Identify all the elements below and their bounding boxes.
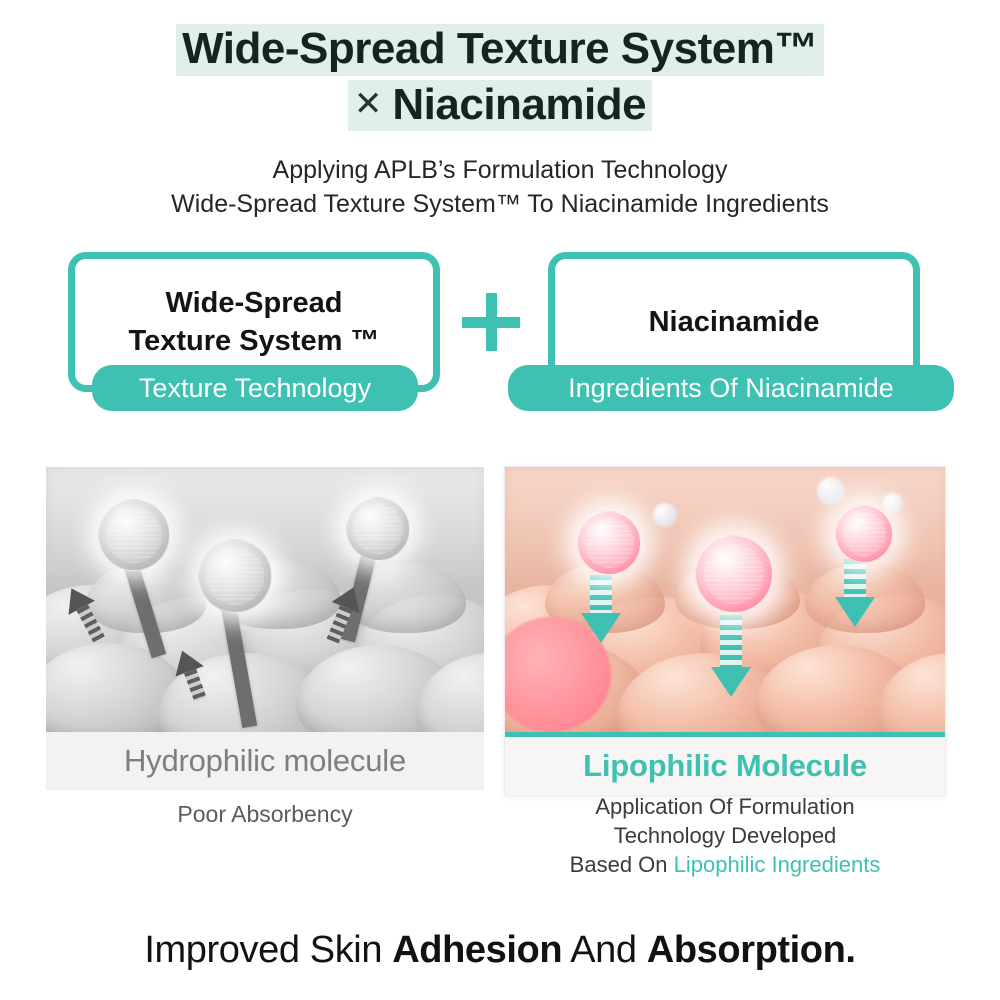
footer-statement: Improved Skin Adhesion And Absorption. <box>0 929 1000 972</box>
hydrophilic-molecule-3 <box>346 497 410 561</box>
title-row-2: ✕Niacinamide <box>0 80 1000 132</box>
micro-bubble-3 <box>883 493 903 513</box>
page-title: Wide-Spread Texture System™ ✕Niacinamide <box>0 0 1000 131</box>
cross-icon: ✕ <box>354 85 383 123</box>
footnote-poor-absorbency: Poor Absorbency <box>46 799 484 829</box>
footer-part-3: And <box>562 929 647 971</box>
caption-hydrophilic: Hydrophilic molecule <box>46 732 484 790</box>
subtitle: Applying APLB’s Formulation Technology W… <box>0 153 1000 221</box>
subtitle-line-1: Applying APLB’s Formulation Technology <box>0 153 1000 187</box>
lipophilic-molecule-1 <box>577 511 641 575</box>
absorb-arrow-1 <box>581 575 621 643</box>
micro-bubble-1 <box>653 503 677 527</box>
title-line-1: Wide-Spread Texture System™ <box>0 24 1000 76</box>
hydrophilic-molecule-2 <box>198 539 272 613</box>
panel-lipophilic: Lipophilic Molecule <box>505 467 945 795</box>
lipophilic-molecule-3 <box>835 505 893 563</box>
pill-ingredients-of-niacinamide: Ingredients Of Niacinamide <box>508 365 954 411</box>
footnote-line-3: Based On Lipophilic Ingredients <box>505 850 945 879</box>
formula-cards: Wide-Spread Texture System ™ Texture Tec… <box>0 245 1000 445</box>
absorb-arrow-2 <box>711 615 751 697</box>
card-right-title: Niacinamide <box>639 303 830 341</box>
card-left-title-line-2: Texture System ™ <box>129 322 380 360</box>
caption-lipophilic: Lipophilic Molecule <box>505 737 945 795</box>
footer-part-4: Absorption. <box>647 929 856 971</box>
title-row-1: Wide-Spread Texture System™ <box>0 24 1000 76</box>
footnote-line-3-highlight: Lipophilic Ingredients <box>674 852 881 877</box>
title-line-2: Niacinamide <box>392 80 646 129</box>
footnote-line-2: Technology Developed <box>505 821 945 850</box>
subtitle-line-2: Wide-Spread Texture System™ To Niacinami… <box>0 187 1000 221</box>
card-left-title: Wide-Spread Texture System ™ <box>119 284 390 361</box>
footnote-lipophilic: Application Of Formulation Technology De… <box>505 792 945 879</box>
pill-texture-technology: Texture Technology <box>92 365 418 411</box>
lipophilic-molecule-2 <box>695 535 773 613</box>
footnote-line-1: Application Of Formulation <box>505 792 945 821</box>
hydrophilic-illustration <box>46 467 484 732</box>
footer-part-1: Improved Skin <box>144 929 392 971</box>
hydrophilic-molecule-1 <box>98 499 170 571</box>
footer-part-2: Adhesion <box>392 929 562 971</box>
card-left-title-line-1: Wide-Spread <box>165 287 342 319</box>
lipophilic-illustration <box>505 467 945 732</box>
absorb-arrow-3 <box>835 559 875 627</box>
panel-hydrophilic: Hydrophilic molecule <box>46 467 484 790</box>
comparison-panels: Hydrophilic molecule <box>0 467 1000 787</box>
plus-icon <box>462 293 520 351</box>
micro-bubble-2 <box>817 477 845 505</box>
footnote-line-3-prefix: Based On <box>570 852 674 877</box>
